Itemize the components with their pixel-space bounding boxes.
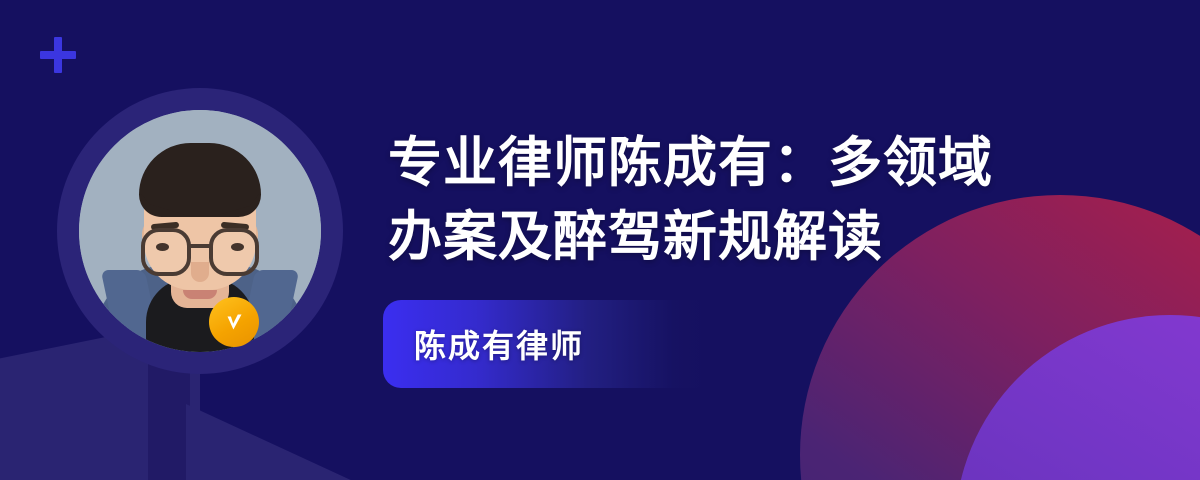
portrait-glasses-lens-right [209, 228, 259, 276]
page-title-line-1: 专业律师陈成有：多领域 [388, 126, 1088, 200]
avatar[interactable] [57, 88, 343, 374]
page-title-line-2: 办案及醉驾新规解读 [388, 200, 1088, 274]
lawyer-name-button-label: 陈成有律师 [414, 321, 584, 367]
page-title: 专业律师陈成有：多领域 办案及醉驾新规解读 [388, 126, 1088, 274]
portrait-glasses-bridge [189, 244, 211, 248]
lawyer-name-button[interactable]: 陈成有律师 [383, 300, 715, 388]
portrait-nose [191, 262, 209, 282]
verified-badge-icon [209, 297, 259, 347]
lawyer-profile-banner: 专业律师陈成有：多领域 办案及醉驾新规解读 陈成有律师 [0, 0, 1200, 480]
decorative-triangle-shape [186, 404, 401, 480]
plus-icon [40, 37, 76, 73]
avatar-photo [79, 110, 321, 352]
portrait-glasses-lens-left [141, 228, 191, 276]
portrait-mouth [183, 290, 217, 299]
plus-icon-bar-vertical [54, 37, 62, 73]
